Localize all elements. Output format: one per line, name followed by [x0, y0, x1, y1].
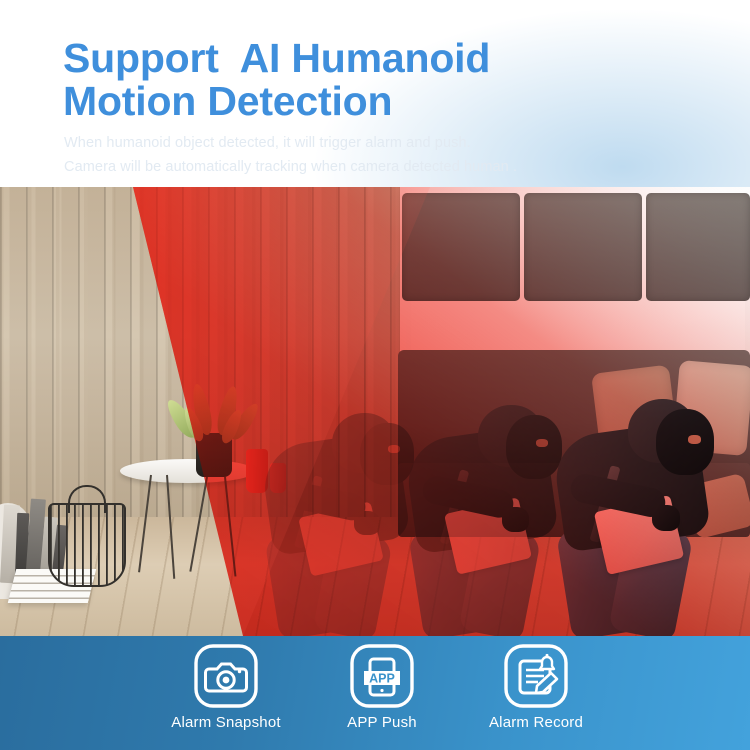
feature-alarm-record[interactable]: Alarm Record — [456, 642, 616, 731]
sofa-cushion — [402, 193, 520, 301]
feature-list: Alarm Snapshot APP APP Push — [0, 636, 750, 750]
sofa-cushion — [524, 193, 642, 301]
feature-label: APP Push — [302, 714, 462, 731]
burglar-main — [540, 373, 750, 636]
app-push-icon: APP — [348, 642, 416, 710]
feature-bar: Alarm Snapshot APP APP Push — [0, 636, 750, 750]
sofa-cushion — [646, 193, 750, 301]
feature-alarm-snapshot[interactable]: Alarm Snapshot — [146, 642, 306, 731]
feature-label: Alarm Record — [456, 714, 616, 731]
feature-label: Alarm Snapshot — [146, 714, 306, 731]
subtitle-line-1: When humanoid object detected, it will t… — [64, 135, 471, 151]
app-badge-text: APP — [369, 671, 395, 685]
alarm-record-icon — [502, 642, 570, 710]
page-title: Support AI Humanoid Motion Detection — [63, 37, 490, 123]
headline-line-1: Support AI Humanoid — [63, 35, 490, 81]
subtitle-line-2: Camera will be automatically tracking wh… — [64, 159, 517, 175]
product-feature-poster: Support AI Humanoid Motion Detection Whe… — [0, 0, 750, 750]
camera-icon — [192, 642, 260, 710]
headline-line-2: Motion Detection — [63, 78, 392, 124]
header-banner: Support AI Humanoid Motion Detection Whe… — [0, 0, 750, 187]
side-table — [120, 459, 256, 483]
feature-app-push[interactable]: APP APP Push — [302, 642, 462, 731]
wire-basket — [48, 503, 126, 587]
scene-photo — [0, 187, 750, 636]
